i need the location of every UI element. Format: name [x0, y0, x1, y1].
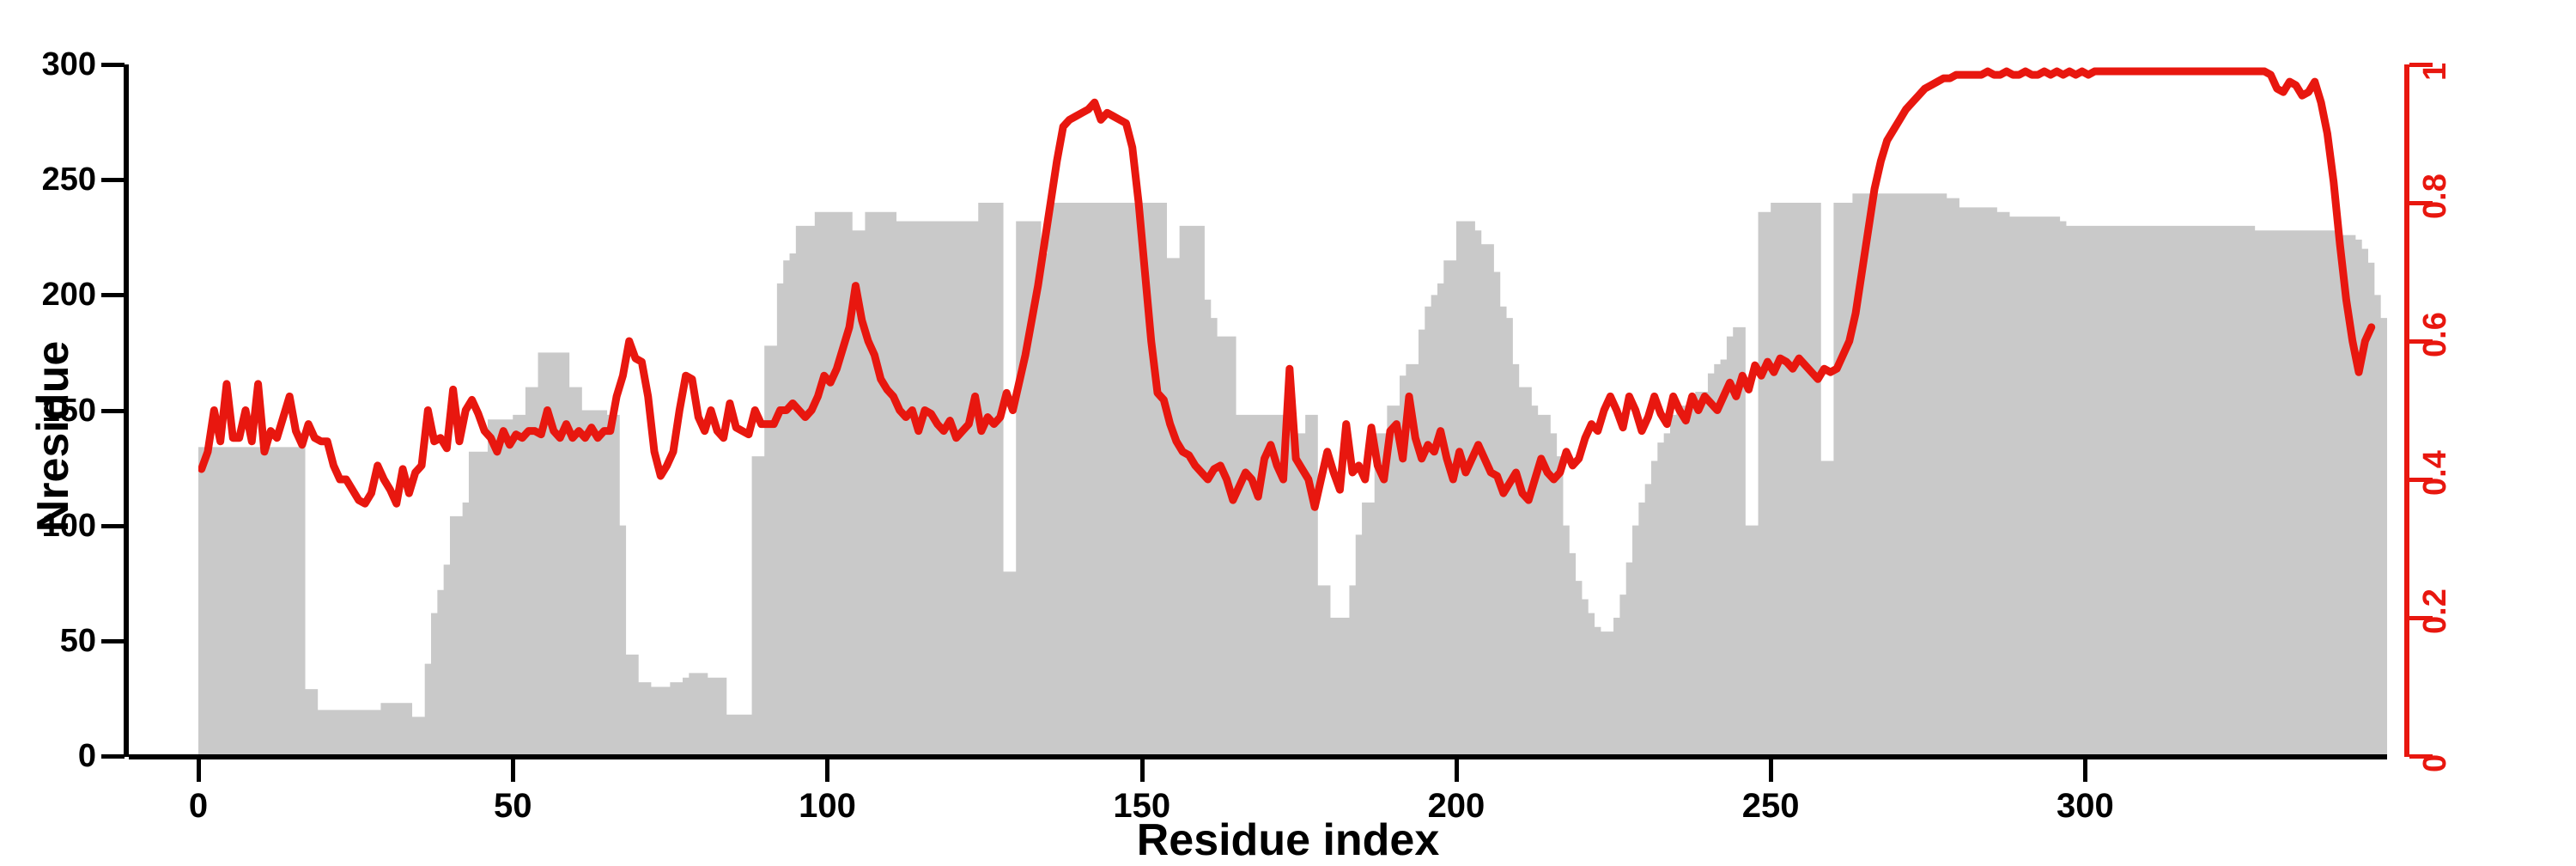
x-axis-tick-label: 0 [138, 789, 258, 823]
y-axis-right-line [2404, 64, 2409, 757]
chart-figure: 050100150200250300 050100150200250300 00… [0, 0, 2576, 859]
x-axis-tick [825, 759, 829, 782]
y-axis-left-tick [101, 639, 125, 643]
x-axis-tick-label: 250 [1710, 789, 1831, 823]
x-axis-tick-label: 50 [453, 789, 573, 823]
y-axis-right-tick-label: 0.2 [2419, 589, 2451, 634]
y-axis-right-tick-label: 0 [2419, 754, 2451, 772]
x-axis-tick-label: 300 [2025, 789, 2145, 823]
x-axis-tick [2083, 759, 2087, 782]
x-axis-tick [1140, 759, 1145, 782]
y-axis-left-tick-label: 0 [0, 740, 96, 772]
x-axis-tick-label: 100 [767, 789, 887, 823]
y-axis-right-tick-label: 0.6 [2419, 312, 2451, 357]
y-axis-left-tick [101, 293, 125, 297]
chart-canvas [198, 64, 2387, 756]
y-axis-left-tick [101, 754, 125, 759]
nresidue-area-series [198, 193, 2387, 756]
y-axis-right-tick-label: 1 [2419, 63, 2451, 81]
y-axis-left-tick [101, 178, 125, 182]
x-axis-line [129, 754, 2387, 759]
y-axis-left-tick-label: 250 [0, 163, 96, 196]
y-axis-left-tick-label: 300 [0, 48, 96, 81]
x-axis-tick [511, 759, 515, 782]
y-axis-right-tick-label: 0.8 [2419, 174, 2451, 219]
x-axis-tick [197, 759, 201, 782]
y-axis-left-tick-label: 50 [0, 625, 96, 657]
plot-area [198, 64, 2387, 756]
x-axis-tick [1769, 759, 1773, 782]
x-axis-label: Residue index [945, 814, 1631, 866]
y-axis-left-label: Nresidue [27, 282, 79, 591]
y-axis-left-tick [101, 409, 125, 413]
y-axis-right-tick-label: 0.4 [2419, 450, 2451, 496]
y-axis-left-tick [101, 524, 125, 528]
y-axis-left-tick [101, 63, 125, 67]
x-axis-tick [1455, 759, 1459, 782]
